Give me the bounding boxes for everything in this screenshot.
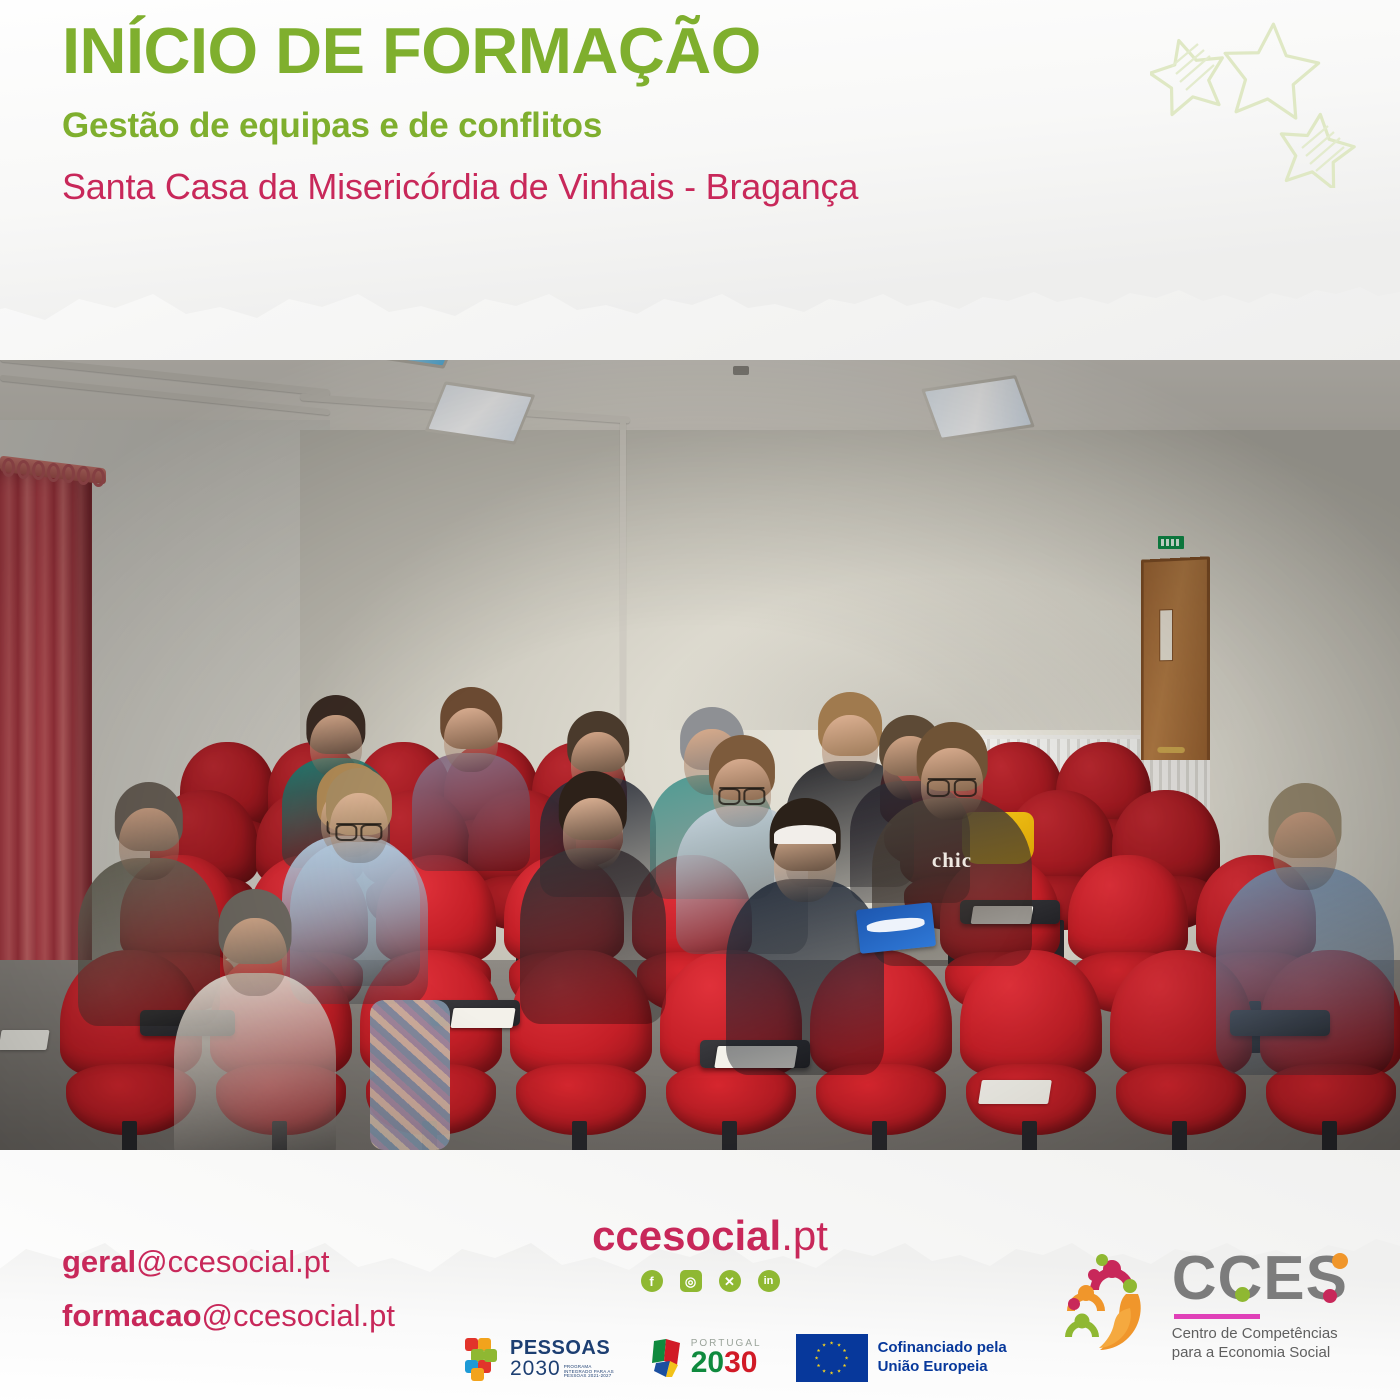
cces-wordmark: CCES (1172, 1251, 1348, 1307)
email-domain: @ccesocial.pt (202, 1298, 395, 1333)
header: INÍCIO DE FORMAÇÃO Gestão de equipas e d… (62, 18, 858, 208)
attendee-face (223, 918, 287, 996)
page-title: INÍCIO DE FORMAÇÃO (62, 18, 858, 84)
attendee-face (774, 826, 836, 902)
attendee-torso (1216, 867, 1394, 1075)
attendee-face (119, 808, 179, 880)
contact-emails: geral@ccesocial.pt formacao@ccesocial.pt (62, 1244, 395, 1352)
cces-people-hand-icon (1052, 1252, 1160, 1360)
portugal-year: 2030 (691, 1349, 762, 1378)
website-block: ccesocial.pt f ◎ ✕ in (560, 1212, 860, 1292)
portugal-flag-icon (650, 1337, 686, 1379)
paper-sheet (0, 1030, 50, 1050)
email-domain: @ccesocial.pt (136, 1244, 329, 1279)
site-tld: .pt (781, 1212, 828, 1259)
star-outline-icon (1219, 19, 1322, 119)
attendee (1216, 800, 1394, 1086)
cces-brand-logo: CCES Centro de Competências para a Econo… (1052, 1251, 1348, 1362)
attendee (412, 698, 530, 880)
attendee-face (563, 798, 623, 870)
cces-divider (1174, 1314, 1260, 1319)
eu-line2: União Europeia (878, 1358, 1007, 1377)
smoke-detector (733, 366, 749, 375)
eu-line1: Cofinanciado pela (878, 1339, 1007, 1358)
curtain-rings (0, 458, 110, 480)
attendee-face (330, 793, 388, 863)
attendee-torso (520, 848, 666, 1024)
pessoas-year: 2030 (510, 1358, 561, 1379)
portugal-2030-logo: PORTUGAL 2030 (650, 1337, 762, 1379)
organization-name: Santa Casa da Misericórdia de Vinhais - … (62, 166, 858, 208)
eyeglasses (336, 823, 381, 838)
paper-sheet (978, 1080, 1052, 1104)
footer: geral@ccesocial.pt formacao@ccesocial.pt… (0, 1180, 1400, 1400)
pessoas-mark-icon (465, 1338, 503, 1378)
pessoas-subtitle: PROGRAMA INTEGRADO PARA AS PESSOAS 2021-… (564, 1365, 616, 1379)
pessoas-label: PESSOAS (510, 1338, 616, 1358)
course-subtitle: Gestão de equipas e de conflitos (62, 106, 858, 146)
attendee (174, 906, 336, 1184)
wall-shadow (640, 430, 1400, 730)
website-url[interactable]: ccesocial.pt (560, 1212, 860, 1260)
social-links: f ◎ ✕ in (560, 1270, 860, 1292)
eyeglasses (928, 778, 976, 794)
attendee-torso (174, 973, 336, 1173)
email-formacao[interactable]: formacao@ccesocial.pt (62, 1298, 395, 1334)
instagram-icon[interactable]: ◎ (680, 1270, 702, 1292)
poster: chic (0, 0, 1400, 1400)
attendee-face (921, 748, 983, 820)
x-twitter-icon[interactable]: ✕ (719, 1270, 741, 1292)
cces-letters: CCES (1172, 1244, 1348, 1313)
cces-tagline-line2: para a Economia Social (1172, 1343, 1348, 1362)
email-user: formacao (62, 1298, 202, 1333)
blue-notebook (856, 902, 936, 954)
facebook-icon[interactable]: f (641, 1270, 663, 1292)
headband (774, 825, 836, 845)
cces-dot-orange (1332, 1253, 1348, 1269)
exit-sign-icon (1158, 536, 1184, 549)
cces-dot-green (1235, 1287, 1250, 1302)
door-glass-panel (1159, 609, 1173, 661)
eu-text: Cofinanciado pela União Europeia (878, 1339, 1007, 1377)
email-geral[interactable]: geral@ccesocial.pt (62, 1244, 395, 1280)
cces-tagline: Centro de Competências para a Economia S… (1172, 1324, 1348, 1362)
cces-tagline-line1: Centro de Competências (1172, 1324, 1348, 1343)
sweatshirt-text: chic (932, 848, 972, 873)
attendee (520, 786, 666, 1034)
eu-cofinancing-logo: Cofinanciado pela União Europeia (796, 1334, 1007, 1382)
attendee-face (1273, 812, 1337, 890)
cces-dot-crimson (1323, 1289, 1337, 1303)
pessoas-2030-logo: PESSOAS 2030 PROGRAMA INTEGRADO PARA AS … (465, 1338, 616, 1379)
eu-flag-icon (796, 1334, 868, 1382)
email-user: geral (62, 1244, 136, 1279)
funding-logos: PESSOAS 2030 PROGRAMA INTEGRADO PARA AS … (465, 1334, 1007, 1382)
eyeglasses (719, 787, 764, 802)
linkedin-icon[interactable]: in (758, 1270, 780, 1292)
decorative-stars (1150, 8, 1380, 188)
star-hatched-icon (1150, 32, 1232, 117)
door-handle (1157, 747, 1185, 753)
wall-conduit (620, 420, 626, 750)
attendee-face (444, 708, 498, 772)
site-name: ccesocial (592, 1212, 781, 1259)
knitted-blanket (370, 1000, 450, 1150)
paper-sheet (450, 1008, 515, 1028)
